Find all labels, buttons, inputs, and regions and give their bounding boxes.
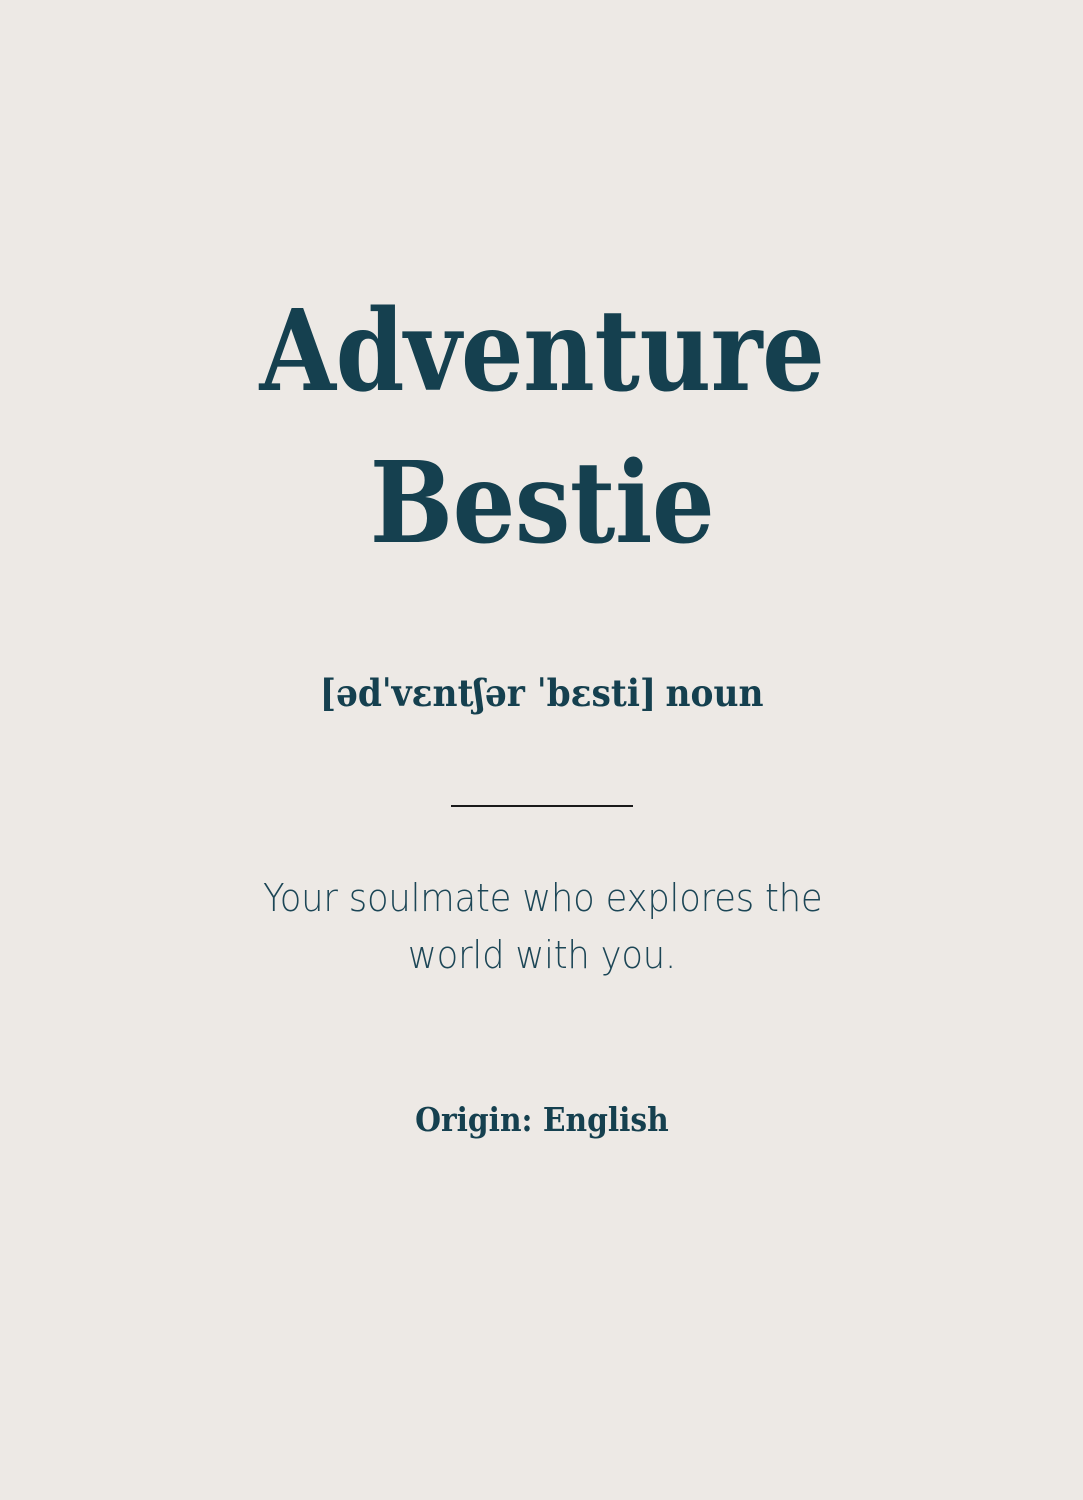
part-of-speech: noun	[665, 671, 763, 715]
ipa-transcription: [ədˈvɛntʃər ˈbɛsti]	[320, 671, 656, 715]
definition-line-1: Your soulmate who explores the	[263, 870, 821, 928]
headword-line-1: Adventure	[207, 276, 876, 428]
definition-card: Adventure Bestie [ədˈvɛntʃər ˈbɛsti]noun…	[0, 0, 1083, 1500]
origin-label: Origin: English	[415, 1103, 669, 1136]
horizontal-rule-divider	[451, 805, 633, 807]
divider-container	[0, 804, 1083, 808]
headword-line-2: Bestie	[207, 428, 876, 580]
pronunciation: [ədˈvɛntʃər ˈbɛsti]noun	[320, 675, 764, 712]
definition-line-2: world with you.	[263, 927, 821, 985]
definition-text: Your soulmate who explores the world wit…	[263, 870, 821, 986]
headword: Adventure Bestie	[207, 276, 876, 581]
